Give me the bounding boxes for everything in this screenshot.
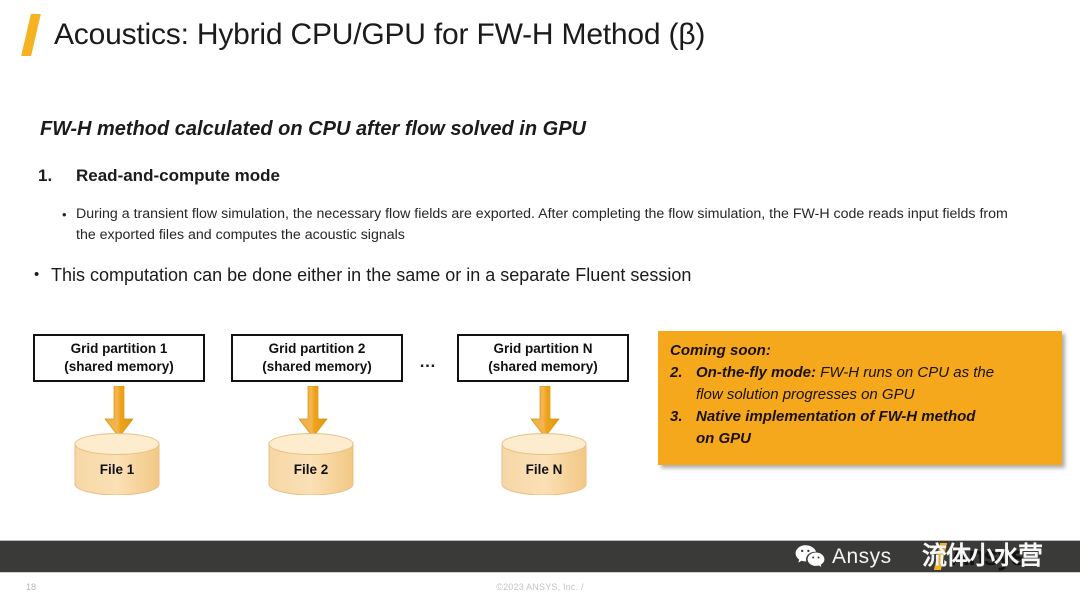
- main-bullet-paragraph: • This computation can be done either in…: [34, 262, 691, 288]
- down-arrow-icon-3: [530, 386, 560, 438]
- grid-partition-box-2: Grid partition 2 (shared memory): [231, 334, 403, 382]
- file-cylinder-1-label: File 1: [74, 462, 160, 477]
- grid-partition-box-1: Grid partition 1 (shared memory): [33, 334, 205, 382]
- callout-item-2-text: On-the-fly mode: FW-H runs on CPU as the: [696, 362, 1048, 384]
- grid-partition-box-1-line1: Grid partition 1: [71, 340, 168, 358]
- sub-bullet-text: During a transient flow simulation, the …: [76, 204, 1012, 246]
- copyright-text: ©2023 ANSYS, Inc. /: [0, 582, 1080, 592]
- callout-item-3-continuation: on GPU: [696, 428, 1048, 450]
- callout-item-3: 3. Native implementation of FW-H method: [670, 406, 1048, 428]
- callout-item-2: 2. On-the-fly mode: FW-H runs on CPU as …: [670, 362, 1048, 384]
- wechat-watermark-brand: Ansys: [832, 544, 892, 570]
- callout-item-2-lead: On-the-fly mode:: [696, 364, 816, 381]
- file-cylinder-2: File 2: [268, 433, 354, 495]
- file-cylinder-3-label: File N: [501, 462, 587, 477]
- grid-partition-box-1-line2: (shared memory): [64, 358, 174, 376]
- down-arrow-icon-2: [298, 386, 328, 438]
- down-arrow-icon-1: [104, 386, 134, 438]
- title-accent-slash-icon: [21, 14, 41, 56]
- grid-partition-box-2-line1: Grid partition 2: [269, 340, 366, 358]
- coming-soon-callout: Coming soon: 2. On-the-fly mode: FW-H ru…: [658, 331, 1062, 465]
- wechat-icon: [795, 544, 825, 570]
- grid-partition-box-3-line1: Grid partition N: [494, 340, 593, 358]
- grid-partition-box-3: Grid partition N (shared memory): [457, 334, 629, 382]
- grid-partition-box-2-line2: (shared memory): [262, 358, 372, 376]
- slide-title-row: Acoustics: Hybrid CPU/GPU for FW-H Metho…: [26, 12, 705, 58]
- wechat-watermark-chinese: 流体小水营: [922, 536, 1042, 572]
- numbered-item-1-label: Read-and-compute mode: [76, 166, 280, 186]
- callout-item-3-lead: Native implementation of FW-H method: [696, 408, 975, 425]
- callout-item-3-number: 3.: [670, 406, 696, 428]
- page-title: Acoustics: Hybrid CPU/GPU for FW-H Metho…: [54, 18, 705, 52]
- grid-partition-box-3-line2: (shared memory): [488, 358, 598, 376]
- wechat-watermark: Ansys: [795, 541, 892, 572]
- file-cylinder-2-label: File 2: [268, 462, 354, 477]
- bullet-marker-icon: •: [34, 262, 51, 288]
- callout-title: Coming soon:: [670, 340, 1048, 362]
- callout-item-2-continuation: flow solution progresses on GPU: [696, 384, 1048, 406]
- numbered-item-1-number: 1.: [38, 166, 76, 186]
- main-bullet-text: This computation can be done either in t…: [51, 262, 691, 288]
- callout-item-3-text: Native implementation of FW-H method: [696, 406, 1048, 428]
- callout-item-2-number: 2.: [670, 362, 696, 384]
- bullet-marker-icon: •: [62, 204, 76, 246]
- footer-bar: [0, 540, 1080, 573]
- sub-bullet-paragraph: • During a transient flow simulation, th…: [62, 204, 1012, 246]
- callout-item-2-rest: FW-H runs on CPU as the: [816, 364, 994, 381]
- partition-ellipsis: …: [419, 352, 438, 372]
- numbered-item-1: 1. Read-and-compute mode: [38, 166, 280, 186]
- file-cylinder-1: File 1: [74, 433, 160, 495]
- subheading: FW-H method calculated on CPU after flow…: [40, 118, 586, 141]
- file-cylinder-3: File N: [501, 433, 587, 495]
